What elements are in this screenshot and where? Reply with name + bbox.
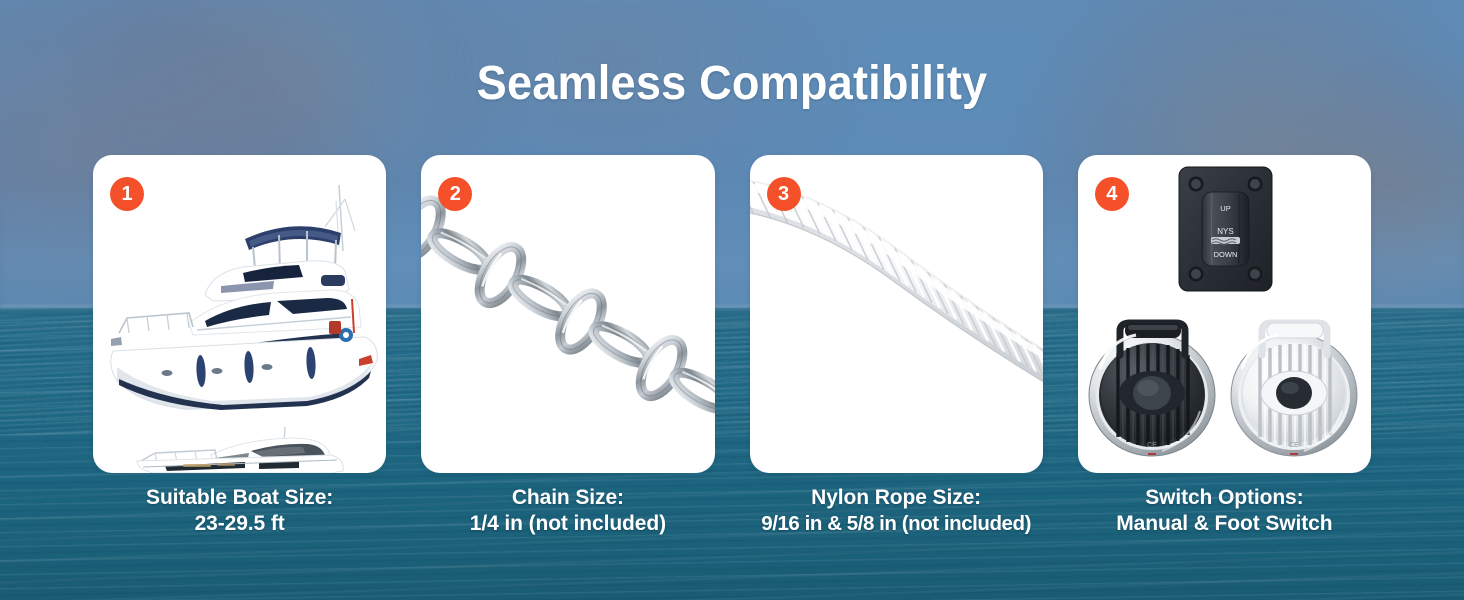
caption-line-2: Manual & Foot Switch: [1078, 511, 1371, 537]
feature-caption-row: Suitable Boat Size: 23-29.5 ft Chain Siz…: [93, 485, 1371, 555]
infographic-banner: Seamless Compatibility 1: [0, 0, 1464, 600]
caption-rope-size: Nylon Rope Size: 9/16 in & 5/8 in (not i…: [750, 485, 1043, 555]
caption-chain-size: Chain Size: 1/4 in (not included): [421, 485, 714, 555]
rocker-switch-panel: UP NYS DOWN: [1179, 167, 1272, 291]
feature-card-row: 1: [93, 155, 1371, 473]
switch-down-label: DOWN: [1213, 250, 1237, 259]
feature-card-switch-options: 4: [1078, 155, 1371, 473]
card-number-badge: 4: [1095, 177, 1129, 211]
svg-text:CE: CE: [1289, 442, 1299, 449]
caption-line-2: 1/4 in (not included): [421, 511, 714, 537]
card-number-badge: 1: [110, 177, 144, 211]
feature-card-chain-size: 2: [421, 155, 714, 473]
feature-card-rope-size: 3: [750, 155, 1043, 473]
wave-logo-icon: [1211, 237, 1240, 244]
black-foot-switch: CE: [1089, 323, 1215, 456]
switch-up-label: UP: [1220, 204, 1230, 213]
caption-line-1: Switch Options:: [1078, 485, 1371, 511]
card-number-badge: 2: [438, 177, 472, 211]
feature-card-boat-size: 1: [93, 155, 386, 473]
svg-text:CE: CE: [1147, 442, 1157, 449]
caption-line-1: Suitable Boat Size:: [93, 485, 386, 511]
card-number-badge: 3: [767, 177, 801, 211]
caption-line-2: 9/16 in & 5/8 in (not included): [750, 511, 1043, 537]
switch-brand-label: NYS: [1217, 227, 1233, 236]
caption-switch-options: Switch Options: Manual & Foot Switch: [1078, 485, 1371, 555]
caption-line-1: Nylon Rope Size:: [750, 485, 1043, 511]
caption-line-1: Chain Size:: [421, 485, 714, 511]
caption-boat-size: Suitable Boat Size: 23-29.5 ft: [93, 485, 386, 555]
white-foot-switch: CE: [1231, 323, 1357, 456]
caption-line-2: 23-29.5 ft: [93, 511, 386, 537]
page-title: Seamless Compatibility: [44, 56, 1420, 111]
